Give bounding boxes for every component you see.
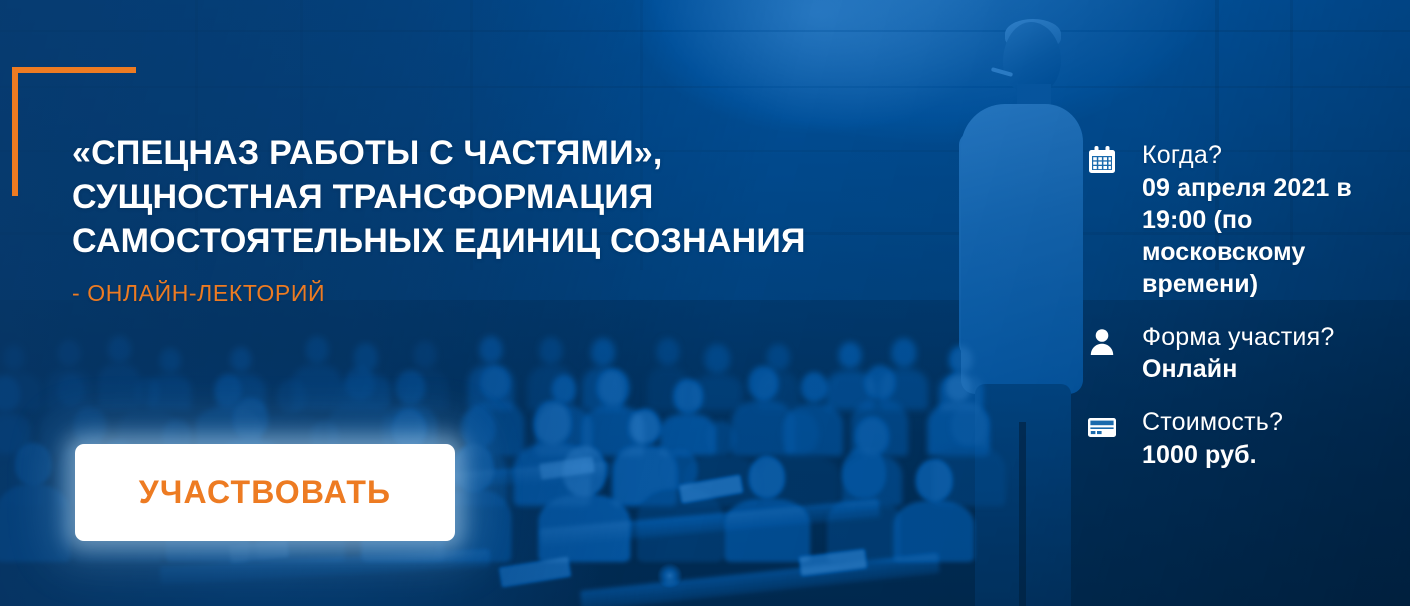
subtitle: - ОНЛАЙН-ЛЕКТОРИЙ bbox=[72, 280, 902, 307]
detail-price-value: 1000 руб. bbox=[1142, 439, 1398, 471]
detail-format-value: Онлайн bbox=[1142, 353, 1398, 385]
detail-when-label: Когда? bbox=[1142, 140, 1398, 172]
headline-block: «СПЕЦНАЗ РАБОТЫ С ЧАСТЯМИ», СУЩНОСТНАЯ Т… bbox=[72, 132, 902, 307]
detail-price: Стоимость? 1000 руб. bbox=[1086, 407, 1398, 471]
page-title: «СПЕЦНАЗ РАБОТЫ С ЧАСТЯМИ», СУЩНОСТНАЯ Т… bbox=[72, 132, 902, 264]
participate-button[interactable]: УЧАСТВОВАТЬ bbox=[75, 444, 455, 541]
webinar-hero-banner: «СПЕЦНАЗ РАБОТЫ С ЧАСТЯМИ», СУЩНОСТНАЯ Т… bbox=[0, 0, 1410, 606]
calendar-icon bbox=[1086, 144, 1118, 176]
detail-price-label: Стоимость? bbox=[1142, 407, 1398, 439]
person-icon bbox=[1086, 326, 1118, 358]
detail-format: Форма участия? Онлайн bbox=[1086, 322, 1398, 386]
credit-card-icon bbox=[1086, 411, 1118, 443]
detail-when: Когда? 09 апреля 2021 в 19:00 (по москов… bbox=[1086, 140, 1398, 300]
hero-content: «СПЕЦНАЗ РАБОТЫ С ЧАСТЯМИ», СУЩНОСТНАЯ Т… bbox=[0, 0, 1410, 606]
event-details-panel: Когда? 09 апреля 2021 в 19:00 (по москов… bbox=[1086, 140, 1398, 471]
detail-format-label: Форма участия? bbox=[1142, 322, 1398, 354]
detail-when-value: 09 апреля 2021 в 19:00 (по московскому в… bbox=[1142, 172, 1398, 300]
cta-container: УЧАСТВОВАТЬ bbox=[75, 444, 455, 541]
